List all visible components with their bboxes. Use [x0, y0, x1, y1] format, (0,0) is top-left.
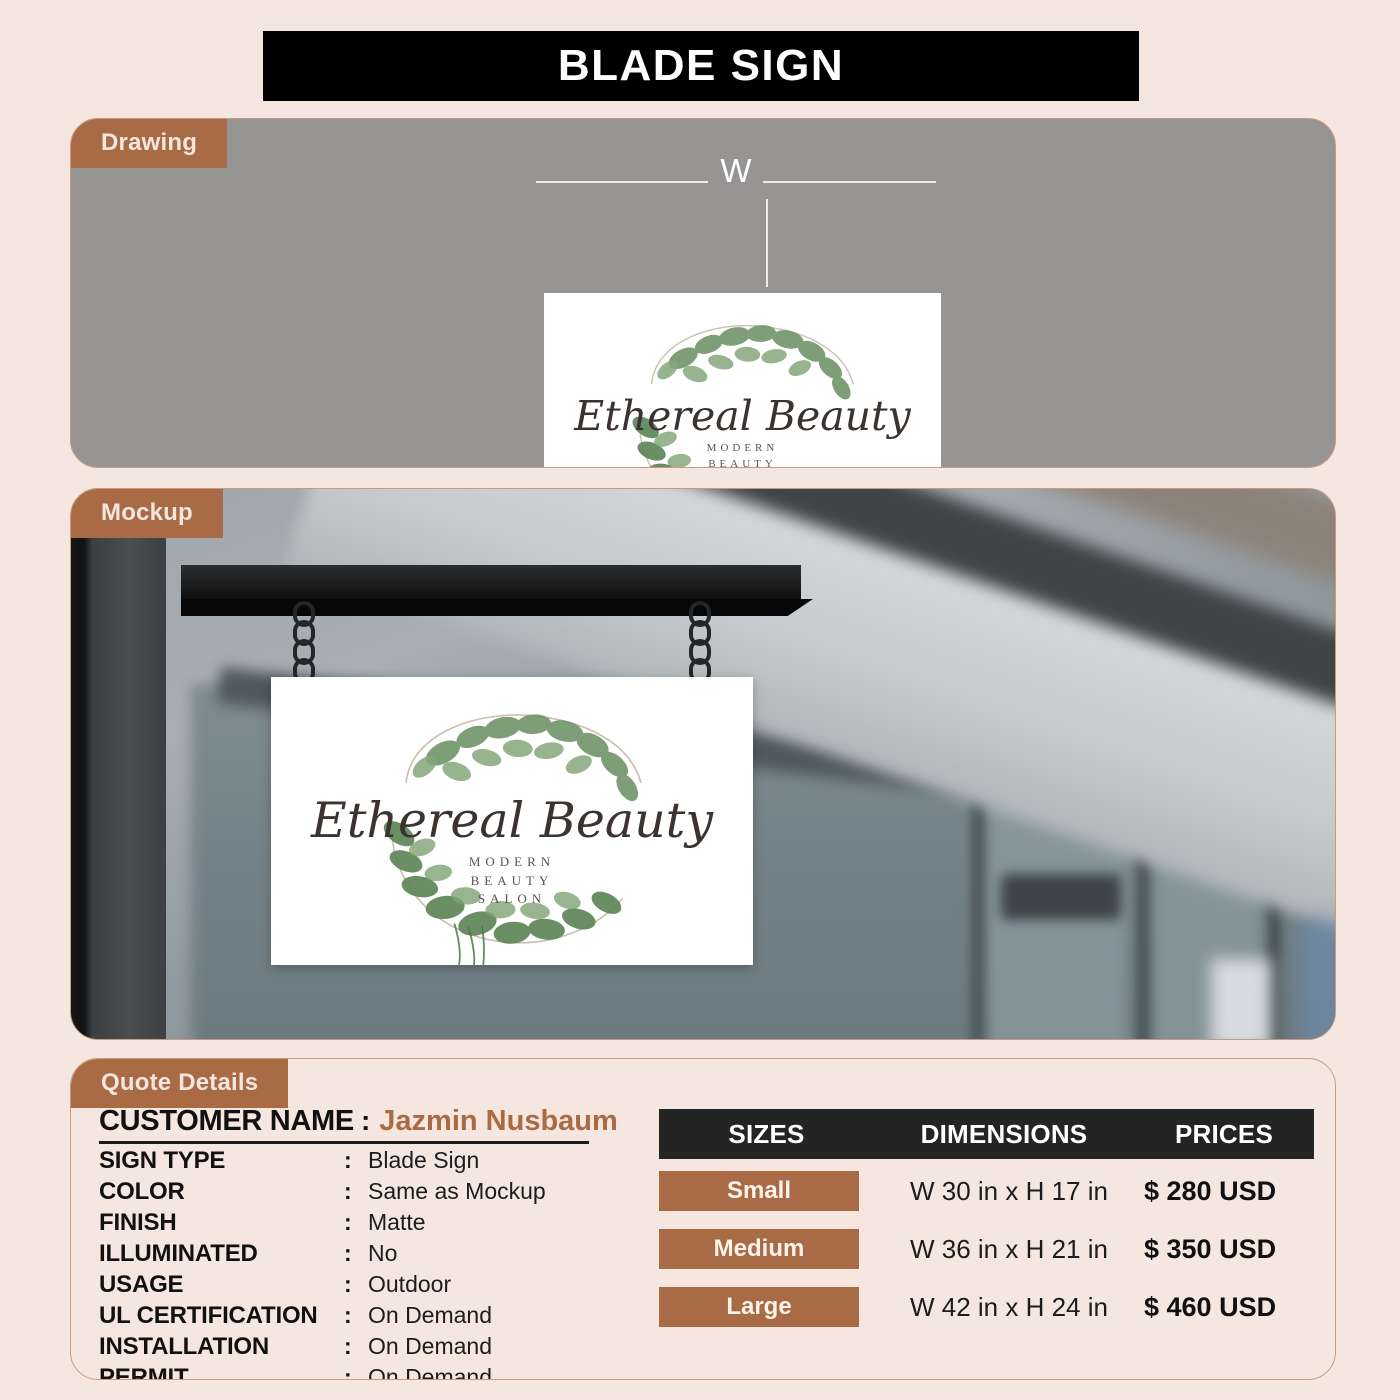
sign-bracket-underside [181, 599, 813, 616]
price-value: $ 280 USD [1144, 1176, 1314, 1207]
size-chip: Large [659, 1287, 859, 1327]
size-chip-cell: Medium [659, 1229, 874, 1269]
storefront-highlight [1211, 959, 1271, 1039]
width-dimension-line-right [763, 181, 936, 183]
quote-details-panel: CUSTOMER NAME : Jazmin Nusbaum SIGN TYPE… [70, 1058, 1336, 1380]
drawing-tab-label: Drawing [71, 119, 227, 168]
chain-link-left [293, 601, 315, 679]
drawing-panel: W H [70, 118, 1336, 468]
column-header-sizes: SIZES [659, 1119, 874, 1150]
spec-key: COLOR [99, 1178, 344, 1206]
spec-value: Outdoor [368, 1271, 451, 1298]
logo-script-text: Ethereal Beauty [311, 792, 713, 849]
spec-colon: : [344, 1302, 368, 1329]
logo-artwork: Ethereal Beauty MODERN BEAUTY SALON [544, 293, 941, 468]
mounting-post [71, 517, 166, 1040]
spec-value: Same as Mockup [368, 1178, 546, 1205]
size-chip: Medium [659, 1229, 859, 1269]
price-value: $ 460 USD [1144, 1292, 1314, 1323]
spec-value: On Demand [368, 1333, 492, 1360]
customer-name-colon: : [361, 1105, 370, 1137]
spec-value: No [368, 1240, 397, 1267]
dimensions-value: W 42 in x H 24 in [874, 1292, 1144, 1323]
customer-name-key: CUSTOMER NAME [99, 1105, 354, 1138]
spec-row-installation: INSTALLATION : On Demand [99, 1333, 639, 1361]
spec-key: SIGN TYPE [99, 1147, 344, 1175]
spec-row-illuminated: ILLUMINATED : No [99, 1240, 639, 1268]
spec-key: UL CERTIFICATION [99, 1302, 344, 1330]
customer-name-value: Jazmin Nusbaum [379, 1105, 618, 1138]
spec-value: On Demand [368, 1364, 492, 1380]
spec-colon: : [344, 1209, 368, 1236]
spec-colon: : [344, 1240, 368, 1267]
logo-subtitle-line-3: SALON [469, 890, 555, 909]
spec-value: Blade Sign [368, 1147, 479, 1174]
spec-key: INSTALLATION [99, 1333, 344, 1361]
spec-key: ILLUMINATED [99, 1240, 344, 1268]
height-dimension-line-top [766, 199, 768, 287]
size-chip-cell: Large [659, 1287, 874, 1327]
logo-subtitle-line-2: BEAUTY [469, 872, 555, 891]
customer-name-row: CUSTOMER NAME : Jazmin Nusbaum [99, 1105, 589, 1144]
logo-script-text: Ethereal Beauty [574, 392, 910, 440]
spec-colon: : [344, 1147, 368, 1174]
price-table: SIZES DIMENSIONS PRICES Small W 30 in x … [659, 1109, 1314, 1333]
chain-link-right [689, 601, 711, 679]
spec-colon: : [344, 1178, 368, 1205]
spec-key: FINISH [99, 1209, 344, 1237]
spec-colon: : [344, 1333, 368, 1360]
spec-row-color: COLOR : Same as Mockup [99, 1178, 639, 1206]
dimensions-value: W 36 in x H 21 in [874, 1234, 1144, 1265]
mockup-sign-plate: Ethereal Beauty MODERN BEAUTY SALON [271, 677, 753, 965]
logo-subtitle-line-2: BEAUTY [707, 457, 779, 468]
spec-value: Matte [368, 1209, 426, 1236]
logo-subtitle-line-1: MODERN [469, 853, 555, 872]
spec-colon: : [344, 1271, 368, 1298]
width-label: W [709, 154, 763, 187]
column-header-dimensions: DIMENSIONS [874, 1119, 1134, 1150]
drawing-canvas: W H [71, 119, 1335, 467]
logo-artwork: Ethereal Beauty MODERN BEAUTY SALON [271, 677, 753, 965]
price-table-row-small: Small W 30 in x H 17 in $ 280 USD [659, 1165, 1314, 1217]
spec-list: CUSTOMER NAME : Jazmin Nusbaum SIGN TYPE… [99, 1105, 639, 1380]
mockup-tab-label: Mockup [71, 489, 223, 538]
quote-details-tab-label: Quote Details [71, 1059, 288, 1108]
spec-row-usage: USAGE : Outdoor [99, 1271, 639, 1299]
spec-row-permit: PERMIT : On Demand [99, 1364, 639, 1380]
spec-key: PERMIT [99, 1364, 344, 1380]
logo-subtitle-line-1: MODERN [707, 441, 779, 457]
spec-row-ul-certification: UL CERTIFICATION : On Demand [99, 1302, 639, 1330]
logo-subtitle: MODERN BEAUTY SALON [469, 853, 555, 910]
column-header-prices: PRICES [1134, 1119, 1314, 1150]
size-chip-cell: Small [659, 1171, 874, 1211]
spec-value: On Demand [368, 1302, 492, 1329]
spec-key: USAGE [99, 1271, 344, 1299]
spec-colon: : [344, 1364, 368, 1380]
logo-subtitle: MODERN BEAUTY SALON [707, 441, 779, 468]
price-table-row-large: Large W 42 in x H 24 in $ 460 USD [659, 1281, 1314, 1333]
price-table-header: SIZES DIMENSIONS PRICES [659, 1109, 1314, 1159]
size-chip: Small [659, 1171, 859, 1211]
width-dimension-line-left [536, 181, 708, 183]
price-table-row-medium: Medium W 36 in x H 21 in $ 350 USD [659, 1223, 1314, 1275]
spec-row-sign-type: SIGN TYPE : Blade Sign [99, 1147, 639, 1175]
quote-sheet: BLADE SIGN W H [0, 0, 1400, 1400]
dimensions-value: W 30 in x H 17 in [874, 1176, 1144, 1207]
mockup-panel: Ethereal Beauty MODERN BEAUTY SALON Mock… [70, 488, 1336, 1040]
storefront-blue-reflection [1301, 919, 1335, 1039]
drawing-sign-plate: Ethereal Beauty MODERN BEAUTY SALON [544, 293, 941, 468]
page-title: BLADE SIGN [558, 41, 844, 91]
storefront-light-fixture [1001, 874, 1121, 920]
spec-row-finish: FINISH : Matte [99, 1209, 639, 1237]
sign-bracket [181, 565, 801, 603]
page-title-bar: BLADE SIGN [263, 31, 1139, 101]
price-value: $ 350 USD [1144, 1234, 1314, 1265]
